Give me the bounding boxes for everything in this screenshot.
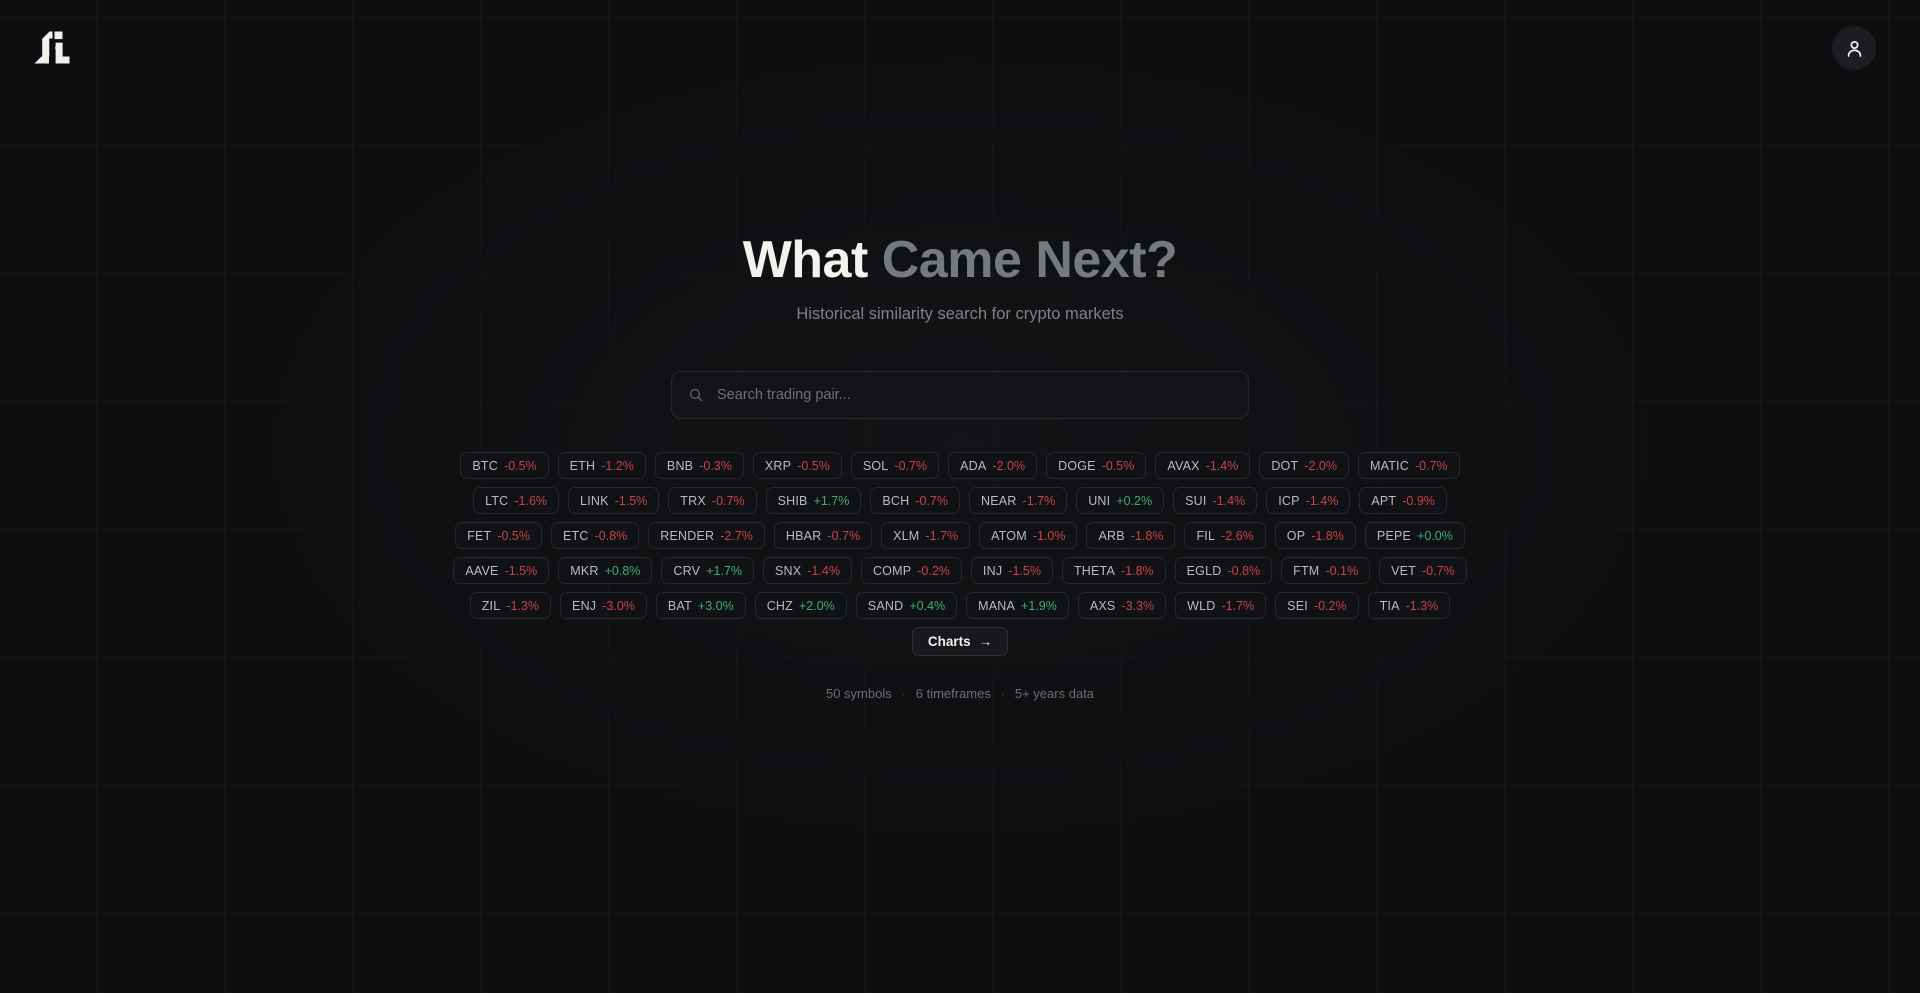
footer-separator: · (1001, 687, 1005, 701)
symbol-ticker: PEPE (1377, 529, 1411, 543)
symbol-change: -0.8% (1227, 564, 1260, 578)
symbol-ticker: ETH (570, 459, 596, 473)
symbol-chip[interactable]: BNB-0.3% (655, 452, 744, 479)
symbol-chip[interactable]: LINK-1.5% (568, 487, 659, 514)
symbol-ticker: DOT (1271, 459, 1298, 473)
symbol-chip[interactable]: ZIL-1.3% (470, 592, 551, 619)
symbol-ticker: SNX (775, 564, 801, 578)
symbol-chip[interactable]: MKR+0.8% (558, 557, 652, 584)
symbol-chip[interactable]: SOL-0.7% (851, 452, 939, 479)
symbol-change: -1.0% (1033, 529, 1066, 543)
symbol-ticker: SUI (1185, 494, 1206, 508)
symbol-change: -1.8% (1131, 529, 1164, 543)
symbol-change: +1.9% (1021, 599, 1057, 613)
symbol-change: -1.3% (506, 599, 539, 613)
symbol-ticker: ADA (960, 459, 986, 473)
symbol-ticker: BCH (882, 494, 909, 508)
symbol-chip[interactable]: SAND+0.4% (856, 592, 957, 619)
account-button[interactable] (1832, 26, 1876, 70)
symbol-ticker: XLM (893, 529, 919, 543)
symbol-chip-grid: BTC-0.5%ETH-1.2%BNB-0.3%XRP-0.5%SOL-0.7%… (430, 452, 1490, 656)
symbol-change: -0.7% (894, 459, 927, 473)
symbol-chip[interactable]: UNI+0.2% (1076, 487, 1164, 514)
symbol-change: -0.1% (1325, 564, 1358, 578)
symbol-chip[interactable]: VET-0.7% (1379, 557, 1467, 584)
symbol-change: -1.4% (1306, 494, 1339, 508)
symbol-chip[interactable]: AAVE-1.5% (453, 557, 549, 584)
symbol-chip[interactable]: COMP-0.2% (861, 557, 962, 584)
symbol-change: +0.2% (1116, 494, 1152, 508)
symbol-ticker: ZIL (482, 599, 501, 613)
symbol-change: +1.7% (706, 564, 742, 578)
symbol-change: -2.6% (1221, 529, 1254, 543)
symbol-ticker: TIA (1380, 599, 1400, 613)
page-title: What Came Next? (743, 232, 1178, 288)
symbol-ticker: ICP (1278, 494, 1299, 508)
symbol-change: -1.5% (1008, 564, 1041, 578)
symbol-chip[interactable]: APT-0.9% (1359, 487, 1447, 514)
symbol-chip[interactable]: CHZ+2.0% (755, 592, 847, 619)
symbol-chip[interactable]: FIL-2.6% (1184, 522, 1265, 549)
symbol-ticker: SHIB (778, 494, 808, 508)
symbol-change: -1.4% (1213, 494, 1246, 508)
symbol-change: -1.6% (514, 494, 547, 508)
symbol-ticker: MATIC (1370, 459, 1409, 473)
symbol-ticker: UNI (1088, 494, 1110, 508)
arrow-right-icon: → (979, 634, 993, 649)
symbol-change: +0.4% (909, 599, 945, 613)
symbol-chip[interactable]: LTC-1.6% (473, 487, 559, 514)
symbol-ticker: ETC (563, 529, 589, 543)
symbol-chip[interactable]: INJ-1.5% (971, 557, 1053, 584)
symbol-chip[interactable]: MANA+1.9% (966, 592, 1069, 619)
page-title-strong: What (743, 231, 868, 289)
symbol-ticker: TRX (680, 494, 706, 508)
symbol-change: -0.8% (595, 529, 628, 543)
symbol-change: -0.7% (1422, 564, 1455, 578)
symbol-ticker: INJ (983, 564, 1002, 578)
symbol-ticker: APT (1371, 494, 1396, 508)
symbol-chip[interactable]: ENJ-3.0% (560, 592, 647, 619)
symbol-chip[interactable]: SHIB+1.7% (766, 487, 862, 514)
symbol-ticker: HBAR (786, 529, 822, 543)
symbol-change: -3.3% (1121, 599, 1154, 613)
footer-stat: 50 symbols (826, 686, 892, 701)
symbol-ticker: DOGE (1058, 459, 1096, 473)
symbol-chip[interactable]: BTC-0.5% (460, 452, 548, 479)
symbol-chip[interactable]: FTM-0.1% (1281, 557, 1370, 584)
symbol-chip[interactable]: PEPE+0.0% (1365, 522, 1465, 549)
symbol-chip[interactable]: TRX-0.7% (668, 487, 756, 514)
symbol-change: -0.7% (1415, 459, 1448, 473)
symbol-change: +0.8% (605, 564, 641, 578)
symbol-chip[interactable]: EGLD-0.8% (1175, 557, 1273, 584)
symbol-change: +1.7% (814, 494, 850, 508)
symbol-chip[interactable]: BAT+3.0% (656, 592, 746, 619)
symbol-ticker: FTM (1293, 564, 1319, 578)
charts-button-label: Charts (928, 634, 971, 649)
symbol-chip[interactable]: DOGE-0.5% (1046, 452, 1146, 479)
symbol-chip[interactable]: OP-1.8% (1275, 522, 1356, 549)
symbol-chip[interactable]: MATIC-0.7% (1358, 452, 1460, 479)
symbol-chip[interactable]: ADA-2.0% (948, 452, 1037, 479)
symbol-change: -2.0% (1304, 459, 1337, 473)
symbol-ticker: AVAX (1167, 459, 1199, 473)
symbol-chip[interactable]: SNX-1.4% (763, 557, 852, 584)
symbol-change: -0.5% (504, 459, 537, 473)
symbol-change: -2.7% (720, 529, 753, 543)
symbol-change: -1.4% (807, 564, 840, 578)
symbol-change: -1.7% (1222, 599, 1255, 613)
symbol-change: -1.8% (1121, 564, 1154, 578)
symbol-chip[interactable]: ATOM-1.0% (979, 522, 1077, 549)
symbol-ticker: SOL (863, 459, 889, 473)
symbol-ticker: MANA (978, 599, 1015, 613)
symbol-change: -0.5% (797, 459, 830, 473)
symbol-chip[interactable]: RENDER-2.7% (648, 522, 765, 549)
search-icon (688, 387, 704, 403)
symbol-chip[interactable]: AVAX-1.4% (1155, 452, 1250, 479)
symbol-change: -1.7% (1023, 494, 1056, 508)
symbol-ticker: SEI (1287, 599, 1308, 613)
symbol-chip[interactable]: XLM-1.7% (881, 522, 970, 549)
symbol-change: -0.2% (1314, 599, 1347, 613)
symbol-chip[interactable]: ICP-1.4% (1266, 487, 1350, 514)
symbol-change: -1.4% (1206, 459, 1239, 473)
symbol-chip[interactable]: SUI-1.4% (1173, 487, 1257, 514)
symbol-chip[interactable]: THETA-1.8% (1062, 557, 1166, 584)
symbol-ticker: LINK (580, 494, 609, 508)
symbol-ticker: FIL (1196, 529, 1215, 543)
symbol-ticker: BTC (472, 459, 498, 473)
footer-stat: 5+ years data (1015, 686, 1094, 701)
symbol-change: -0.2% (917, 564, 950, 578)
symbol-chip[interactable]: XRP-0.5% (753, 452, 842, 479)
footer-stats: 50 symbols·6 timeframes·5+ years data (826, 686, 1094, 701)
symbol-ticker: NEAR (981, 494, 1017, 508)
symbol-change: -1.7% (925, 529, 958, 543)
symbol-ticker: RENDER (660, 529, 714, 543)
symbol-ticker: LTC (485, 494, 508, 508)
symbol-change: -1.2% (601, 459, 634, 473)
symbol-ticker: FET (467, 529, 491, 543)
symbol-change: +3.0% (698, 599, 734, 613)
symbol-ticker: BNB (667, 459, 693, 473)
symbol-ticker: MKR (570, 564, 598, 578)
symbol-ticker: COMP (873, 564, 911, 578)
symbol-chip[interactable]: NEAR-1.7% (969, 487, 1067, 514)
page-title-muted: Came Next? (868, 231, 1178, 289)
symbol-chip[interactable]: AXS-3.3% (1078, 592, 1166, 619)
search-input[interactable] (717, 387, 1232, 403)
symbol-change: -3.0% (602, 599, 635, 613)
charts-button[interactable]: Charts→ (912, 627, 1008, 656)
app-logo[interactable] (28, 26, 74, 70)
symbol-ticker: THETA (1074, 564, 1115, 578)
footer-stat: 6 timeframes (916, 686, 991, 701)
symbol-change: -0.5% (497, 529, 530, 543)
symbol-ticker: ARB (1098, 529, 1124, 543)
symbol-change: -0.3% (699, 459, 732, 473)
symbol-change: -0.9% (1402, 494, 1435, 508)
symbol-chip[interactable]: SEI-0.2% (1275, 592, 1358, 619)
symbol-change: -0.7% (915, 494, 948, 508)
symbol-ticker: BAT (668, 599, 692, 613)
symbol-change: +2.0% (799, 599, 835, 613)
symbol-ticker: AAVE (465, 564, 498, 578)
symbol-ticker: VET (1391, 564, 1416, 578)
symbol-ticker: AXS (1090, 599, 1116, 613)
symbol-chip[interactable]: ETC-0.8% (551, 522, 639, 549)
symbol-chip[interactable]: FET-0.5% (455, 522, 542, 549)
user-icon (1844, 38, 1865, 59)
symbol-chip[interactable]: ETH-1.2% (558, 452, 646, 479)
symbol-chip[interactable]: TIA-1.3% (1368, 592, 1451, 619)
symbol-ticker: ENJ (572, 599, 596, 613)
search-bar[interactable] (671, 371, 1249, 419)
symbol-change: -2.0% (992, 459, 1025, 473)
symbol-change: -1.8% (1311, 529, 1344, 543)
top-bar (0, 0, 1920, 96)
symbol-ticker: CRV (673, 564, 700, 578)
symbol-change: -1.5% (505, 564, 538, 578)
symbol-chip[interactable]: CRV+1.7% (661, 557, 754, 584)
symbol-ticker: OP (1287, 529, 1305, 543)
symbol-ticker: EGLD (1187, 564, 1222, 578)
symbol-chip[interactable]: ARB-1.8% (1086, 522, 1175, 549)
symbol-change: -0.7% (827, 529, 860, 543)
symbol-ticker: WLD (1187, 599, 1215, 613)
symbol-ticker: ATOM (991, 529, 1027, 543)
symbol-change: -1.5% (615, 494, 648, 508)
footer-separator: · (902, 687, 906, 701)
symbol-chip[interactable]: WLD-1.7% (1175, 592, 1266, 619)
page-subtitle: Historical similarity search for crypto … (796, 305, 1123, 324)
hero-stage: What Came Next? Historical similarity se… (0, 0, 1920, 993)
symbol-chip[interactable]: HBAR-0.7% (774, 522, 872, 549)
symbol-chip[interactable]: DOT-2.0% (1259, 452, 1349, 479)
symbol-change: +0.0% (1417, 529, 1453, 543)
symbol-ticker: CHZ (767, 599, 793, 613)
symbol-change: -1.3% (1406, 599, 1439, 613)
logo-icon (28, 26, 74, 70)
symbol-ticker: SAND (868, 599, 904, 613)
symbol-ticker: XRP (765, 459, 791, 473)
symbol-chip[interactable]: BCH-0.7% (870, 487, 960, 514)
symbol-change: -0.7% (712, 494, 745, 508)
symbol-change: -0.5% (1102, 459, 1135, 473)
